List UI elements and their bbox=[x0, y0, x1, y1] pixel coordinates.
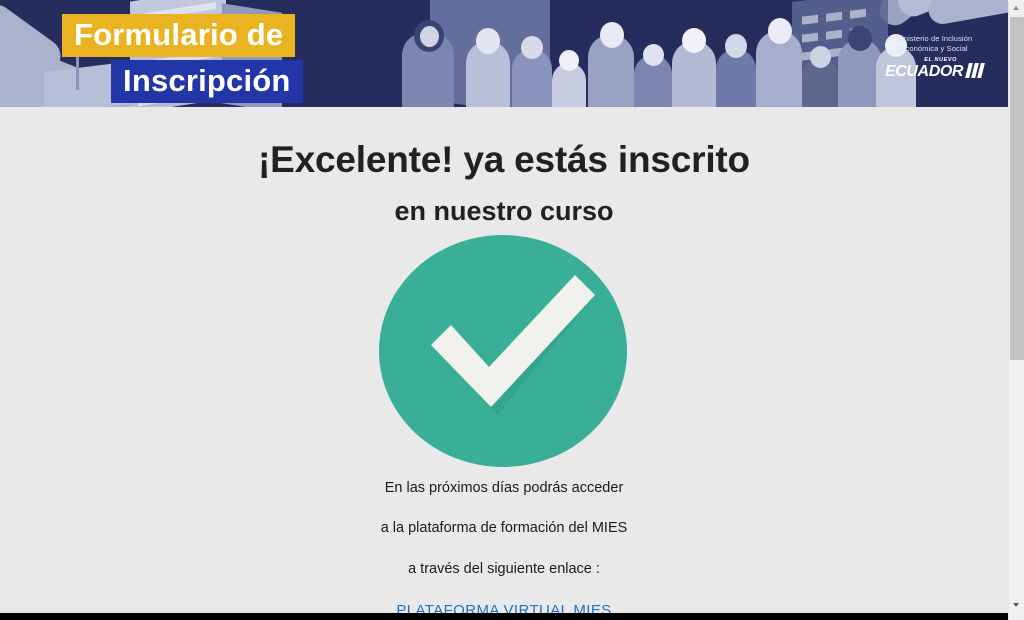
vertical-scrollbar[interactable] bbox=[1008, 0, 1024, 620]
person-figure-icon bbox=[768, 18, 792, 44]
scroll-up-button[interactable] bbox=[1009, 0, 1024, 16]
person-figure-icon bbox=[682, 28, 706, 53]
page-title: ¡Excelente! ya estás inscrito bbox=[0, 107, 1008, 182]
person-figure-icon bbox=[643, 44, 664, 66]
person-figure-icon bbox=[600, 22, 624, 48]
scroll-down-button[interactable] bbox=[1009, 597, 1024, 613]
person-figure-icon bbox=[848, 26, 872, 51]
info-line-3: a través del siguiente enlace : bbox=[0, 536, 1008, 577]
scroll-down-arrow-icon bbox=[1013, 603, 1019, 607]
ministry-logo: Ministerio de Inclusión Económica y Soci… bbox=[874, 34, 994, 83]
scroll-up-arrow-icon bbox=[1013, 6, 1019, 10]
ministry-name-line1: Ministerio de Inclusión bbox=[874, 34, 994, 44]
scrollbar-thumb[interactable] bbox=[1010, 17, 1024, 360]
flag-bars-icon bbox=[965, 63, 983, 83]
browser-viewport: Formulario de Inscripción Ministerio de … bbox=[0, 0, 1024, 620]
person-figure-icon bbox=[476, 28, 500, 54]
page-content: Formulario de Inscripción Ministerio de … bbox=[0, 0, 1008, 613]
page-subtitle: en nuestro curso bbox=[0, 182, 1008, 227]
banner-title: Formulario de Inscripción bbox=[62, 14, 303, 103]
person-figure-icon bbox=[810, 46, 831, 68]
banner-title-line2: Inscripción bbox=[111, 60, 303, 103]
bottom-edge-strip bbox=[0, 613, 1008, 620]
ecuador-brand-logo: EL NUEVO ECUADOR bbox=[885, 63, 983, 83]
ministry-name-line2: Económica y Social bbox=[874, 44, 994, 54]
platform-virtual-mies-link[interactable]: PLATAFORMA VIRTUAL MIES bbox=[396, 602, 611, 613]
ecuador-tagline: EL NUEVO bbox=[924, 57, 957, 63]
checkmark-icon bbox=[379, 235, 629, 467]
person-figure-icon bbox=[725, 34, 747, 58]
page-banner: Formulario de Inscripción Ministerio de … bbox=[0, 0, 1008, 107]
person-figure-icon bbox=[521, 36, 543, 59]
leaf-shape-icon bbox=[926, 0, 1008, 26]
info-line-1: En las próximos días podrás acceder bbox=[0, 467, 1008, 496]
platform-link-row: PLATAFORMA VIRTUAL MIES bbox=[0, 576, 1008, 613]
scrollbar-track[interactable] bbox=[1010, 360, 1024, 597]
banner-title-line1: Formulario de bbox=[62, 14, 295, 57]
success-check-graphic bbox=[379, 235, 629, 467]
person-figure-icon bbox=[559, 50, 579, 71]
ecuador-wordmark: ECUADOR bbox=[885, 64, 963, 80]
person-figure-icon bbox=[420, 26, 439, 47]
main-content: ¡Excelente! ya estás inscrito en nuestro… bbox=[0, 107, 1008, 613]
info-line-2: a la plataforma de formación del MIES bbox=[0, 495, 1008, 536]
